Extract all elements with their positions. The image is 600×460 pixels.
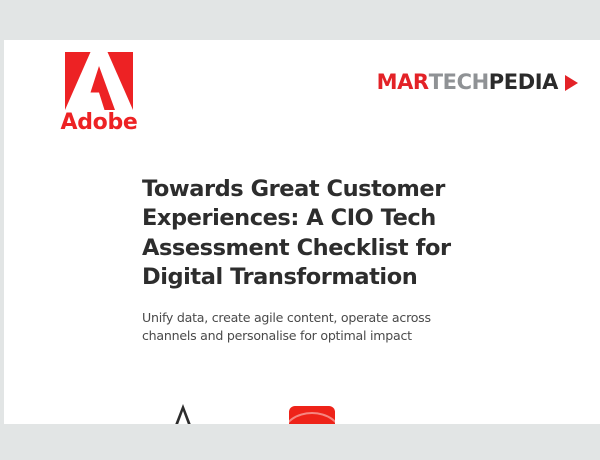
- martechpedia-tech-text: TECH: [429, 72, 489, 93]
- martechpedia-pedia-text: PEDIA: [489, 72, 558, 93]
- slide-copy-block: Towards Great Customer Experiences: A CI…: [142, 175, 472, 346]
- bottom-artwork: [4, 384, 600, 424]
- screenshot-viewport: Adobe MAR TECH PEDIA Towards Great Custo…: [0, 0, 600, 460]
- page-title: Towards Great Customer Experiences: A CI…: [142, 175, 472, 292]
- adobe-wordmark: Adobe: [56, 112, 142, 134]
- adobe-a-mark-icon: [63, 52, 135, 110]
- brand-header-row: Adobe MAR TECH PEDIA: [4, 40, 600, 140]
- red-rounded-badge-icon: [289, 406, 335, 424]
- martechpedia-mar-text: MAR: [377, 72, 429, 93]
- slide-card: Adobe MAR TECH PEDIA Towards Great Custo…: [4, 40, 600, 424]
- chevron-up-icon: [170, 400, 196, 424]
- adobe-logo[interactable]: Adobe: [56, 52, 142, 134]
- page-subtitle: Unify data, create agile content, operat…: [142, 309, 472, 346]
- martechpedia-logo[interactable]: MAR TECH PEDIA: [377, 72, 578, 93]
- play-triangle-icon: [565, 75, 578, 91]
